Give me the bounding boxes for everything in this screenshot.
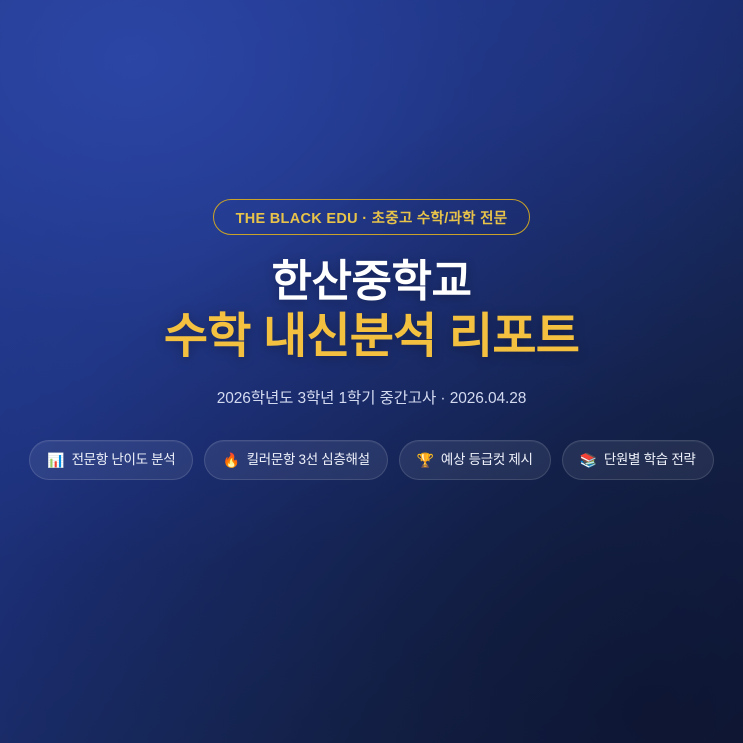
- feature-chip-label: 전문항 난이도 분석: [72, 453, 176, 467]
- page-title-report: 수학 내신분석 리포트: [0, 310, 743, 364]
- brand-badge: THE BLACK EDU · 초중고 수학/과학 전문: [213, 199, 531, 235]
- bar-chart-icon: 📊: [47, 453, 64, 467]
- books-icon: 📚: [580, 453, 597, 467]
- feature-chip-label: 예상 등급컷 제시: [441, 453, 533, 467]
- feature-chip-grade-cut: 🏆 예상 등급컷 제시: [399, 440, 551, 480]
- feature-chip-study-strategy: 📚 단원별 학습 전략: [562, 440, 714, 480]
- feature-chip-killer-questions: 🔥 킬러문항 3선 심층해설: [204, 440, 387, 480]
- fire-icon: 🔥: [222, 453, 239, 467]
- poster-content: THE BLACK EDU · 초중고 수학/과학 전문 한산중학교 수학 내신…: [0, 0, 743, 480]
- trophy-icon: 🏆: [417, 453, 434, 467]
- report-poster: THE BLACK EDU · 초중고 수학/과학 전문 한산중학교 수학 내신…: [0, 0, 743, 743]
- exam-subtitle: 2026학년도 3학년 1학기 중간고사 · 2026.04.28: [0, 386, 743, 408]
- feature-chip-label: 킬러문항 3선 심층해설: [247, 453, 370, 467]
- badge-row: THE BLACK EDU · 초중고 수학/과학 전문: [0, 199, 743, 235]
- feature-chip-difficulty: 📊 전문항 난이도 분석: [29, 440, 193, 480]
- feature-chip-label: 단원별 학습 전략: [604, 453, 696, 467]
- page-title-school: 한산중학교: [0, 257, 743, 306]
- feature-chip-row: 📊 전문항 난이도 분석 🔥 킬러문항 3선 심층해설 🏆 예상 등급컷 제시 …: [0, 440, 743, 480]
